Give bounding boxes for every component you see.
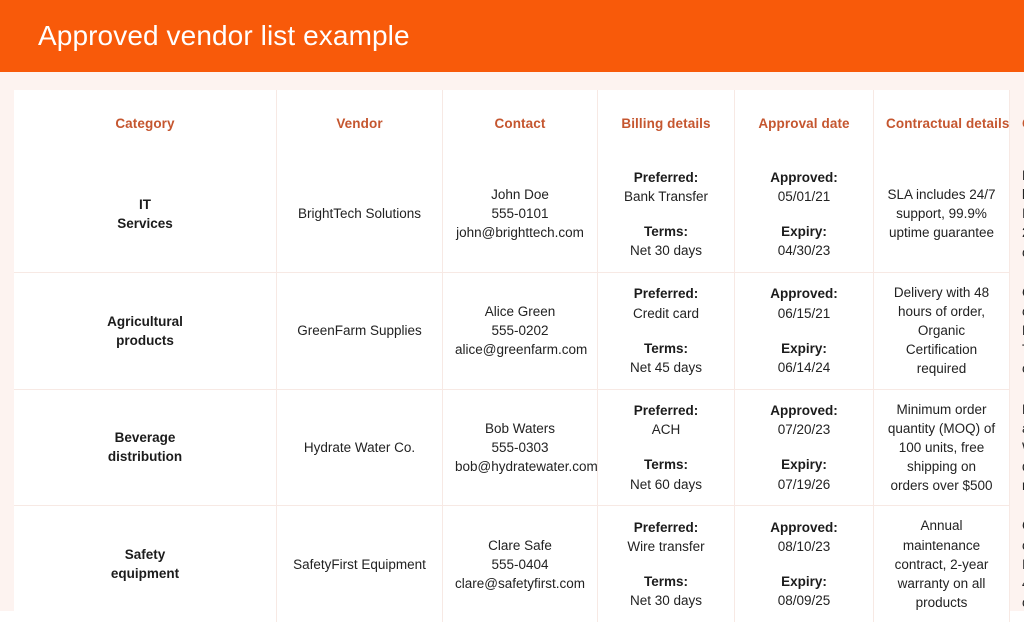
billing-terms-label: Terms:	[610, 455, 722, 474]
billing-preferred: Preferred: ACH	[610, 401, 722, 439]
billing-terms-label: Terms:	[610, 222, 722, 241]
spacer	[610, 206, 722, 222]
expiry-value: 06/14/24	[747, 358, 861, 377]
table-row: Beveragedistribution Hydrate Water Co. B…	[14, 390, 1010, 507]
billing-terms-label: Terms:	[610, 572, 722, 591]
cell-contractual-details: Delivery with 48 hours of order, Organic…	[874, 273, 1010, 390]
contact-email: john@brighttech.com	[455, 223, 585, 242]
cell-billing-details: Preferred: Wire transfer Terms: Net 30 d…	[598, 506, 735, 622]
column-header-contact[interactable]: Contact	[443, 90, 598, 156]
cell-category: Safetyequipment	[14, 506, 277, 622]
expiry-value: 07/19/26	[747, 475, 861, 494]
billing-preferred: Preferred: Credit card	[610, 284, 722, 322]
contact-name: Alice Green	[455, 302, 585, 321]
expiry-block: Expiry: 07/19/26	[747, 455, 861, 493]
cell-contractual-details: SLA includes 24/7 support, 99.9% uptime …	[874, 156, 1010, 273]
contact-name: Clare Safe	[455, 536, 585, 555]
contact-phone: 555-0303	[455, 438, 585, 457]
cell-vendor: SafetyFirst Equipment	[277, 506, 443, 622]
contact-phone: 555-0101	[455, 204, 585, 223]
contact-name: Bob Waters	[455, 419, 585, 438]
spacer	[610, 556, 722, 572]
billing-preferred: Preferred: Bank Transfer	[610, 168, 722, 206]
expiry-label: Expiry:	[747, 572, 861, 591]
table-body: ITServices BrightTech Solutions John Doe…	[14, 156, 1010, 622]
vendor-table-card: Category Vendor Contact Billing details …	[14, 90, 1010, 600]
contact-phone: 555-0202	[455, 321, 585, 340]
cell-contact: Alice Green 555-0202 alice@greenfarm.com	[443, 273, 598, 390]
billing-terms: Terms: Net 45 days	[610, 339, 722, 377]
contact-phone: 555-0404	[455, 555, 585, 574]
expiry-value: 08/09/25	[747, 591, 861, 610]
spacer	[610, 323, 722, 339]
expiry-label: Expiry:	[747, 339, 861, 358]
contact-name: John Doe	[455, 185, 585, 204]
approved-block: Approved: 07/20/23	[747, 401, 861, 439]
expiry-value: 04/30/23	[747, 241, 861, 260]
approved-block: Approved: 08/10/23	[747, 518, 861, 556]
cell-contact: Bob Waters 555-0303 bob@hydratewater.com	[443, 390, 598, 507]
approved-block: Approved: 06/15/21	[747, 284, 861, 322]
cell-billing-details: Preferred: Bank Transfer Terms: Net 30 d…	[598, 156, 735, 273]
column-header-billing[interactable]: Billing details	[598, 90, 735, 156]
column-header-category[interactable]: Category	[14, 90, 277, 156]
approved-value: 06/15/21	[747, 304, 861, 323]
billing-terms: Terms: Net 30 days	[610, 572, 722, 610]
table-row: Agriculturalproducts GreenFarm Supplies …	[14, 273, 1010, 390]
cell-category: Agriculturalproducts	[14, 273, 277, 390]
spacer	[747, 206, 861, 222]
spacer	[610, 439, 722, 455]
cell-vendor: BrightTech Solutions	[277, 156, 443, 273]
spacer	[747, 556, 861, 572]
approved-label: Approved:	[747, 401, 861, 420]
expiry-block: Expiry: 04/30/23	[747, 222, 861, 260]
cell-approval-date: Approved: 08/10/23 Expiry: 08/09/25	[735, 506, 874, 622]
contact-email: alice@greenfarm.com	[455, 340, 585, 359]
billing-preferred: Preferred: Wire transfer	[610, 518, 722, 556]
cell-category: ITServices	[14, 156, 277, 273]
cell-contact: John Doe 555-0101 john@brighttech.com	[443, 156, 598, 273]
billing-preferred-label: Preferred:	[610, 168, 722, 187]
contact-email: clare@safetyfirst.com	[455, 574, 585, 593]
title-banner: Approved vendor list example	[0, 0, 1024, 72]
approved-block: Approved: 05/01/21	[747, 168, 861, 206]
cell-contractual-details: Annual maintenance contract, 2-year warr…	[874, 506, 1010, 622]
spacer	[747, 323, 861, 339]
table-row: Safetyequipment SafetyFirst Equipment Cl…	[14, 506, 1010, 622]
expiry-label: Expiry:	[747, 222, 861, 241]
expiry-block: Expiry: 08/09/25	[747, 572, 861, 610]
billing-terms-value: Net 45 days	[610, 358, 722, 377]
cell-contact: Clare Safe 555-0404 clare@safetyfirst.co…	[443, 506, 598, 622]
billing-preferred-label: Preferred:	[610, 401, 722, 420]
page-root: Approved vendor list example Category Ve…	[0, 0, 1024, 611]
table-row: ITServices BrightTech Solutions John Doe…	[14, 156, 1010, 273]
page-title: Approved vendor list example	[38, 22, 410, 50]
approved-label: Approved:	[747, 518, 861, 537]
billing-preferred-label: Preferred:	[610, 518, 722, 537]
expiry-block: Expiry: 06/14/24	[747, 339, 861, 377]
cell-billing-details: Preferred: ACH Terms: Net 60 days	[598, 390, 735, 507]
cell-approval-date: Approved: 07/20/23 Expiry: 07/19/26	[735, 390, 874, 507]
cell-billing-details: Preferred: Credit card Terms: Net 45 day…	[598, 273, 735, 390]
approved-value: 05/01/21	[747, 187, 861, 206]
cell-vendor: GreenFarm Supplies	[277, 273, 443, 390]
billing-preferred-label: Preferred:	[610, 284, 722, 303]
approved-vendor-table: Category Vendor Contact Billing details …	[14, 90, 1010, 622]
cell-vendor: Hydrate Water Co.	[277, 390, 443, 507]
column-header-vendor[interactable]: Vendor	[277, 90, 443, 156]
billing-terms-label: Terms:	[610, 339, 722, 358]
table-header-row: Category Vendor Contact Billing details …	[14, 90, 1010, 156]
approved-value: 08/10/23	[747, 537, 861, 556]
billing-terms-value: Net 60 days	[610, 475, 722, 494]
cell-category: Beveragedistribution	[14, 390, 277, 507]
contact-email: bob@hydratewater.com	[455, 457, 585, 476]
billing-preferred-value: Bank Transfer	[610, 187, 722, 206]
billing-preferred-value: ACH	[610, 420, 722, 439]
approved-label: Approved:	[747, 284, 861, 303]
billing-preferred-value: Wire transfer	[610, 537, 722, 556]
approved-value: 07/20/23	[747, 420, 861, 439]
billing-terms: Terms: Net 30 days	[610, 222, 722, 260]
column-header-approval[interactable]: Approval date	[735, 90, 874, 156]
cell-approval-date: Approved: 05/01/21 Expiry: 04/30/23	[735, 156, 874, 273]
billing-terms-value: Net 30 days	[610, 241, 722, 260]
cell-approval-date: Approved: 06/15/21 Expiry: 06/14/24	[735, 273, 874, 390]
billing-preferred-value: Credit card	[610, 304, 722, 323]
spacer	[747, 439, 861, 455]
approved-label: Approved:	[747, 168, 861, 187]
table-header: Category Vendor Contact Billing details …	[14, 90, 1010, 156]
billing-terms: Terms: Net 60 days	[610, 455, 722, 493]
billing-terms-value: Net 30 days	[610, 591, 722, 610]
cell-contractual-details: Minimum order quantity (MOQ) of 100 unit…	[874, 390, 1010, 507]
column-header-contractual[interactable]: Contractual details	[874, 90, 1010, 156]
expiry-label: Expiry:	[747, 455, 861, 474]
